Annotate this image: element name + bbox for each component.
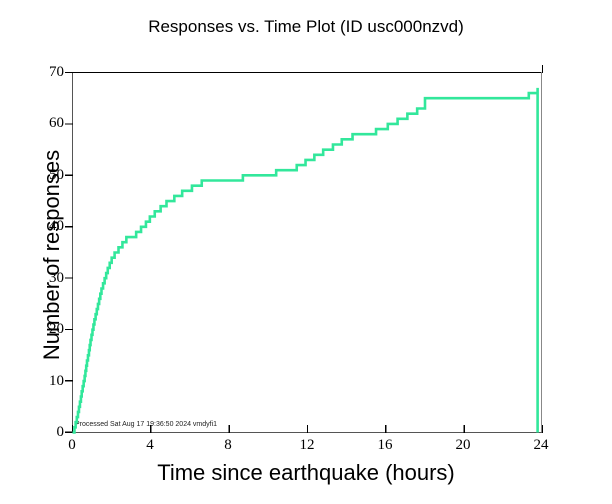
axis-spines	[72, 72, 542, 433]
x-axis-ticks	[73, 425, 543, 433]
plot-area	[0, 0, 612, 504]
response-step-curve	[73, 88, 538, 433]
axis-top-rule	[72, 72, 542, 432]
y-axis-ticks	[65, 73, 73, 433]
chart-figure: Responses vs. Time Plot (ID usc000nzvd) …	[0, 0, 612, 504]
